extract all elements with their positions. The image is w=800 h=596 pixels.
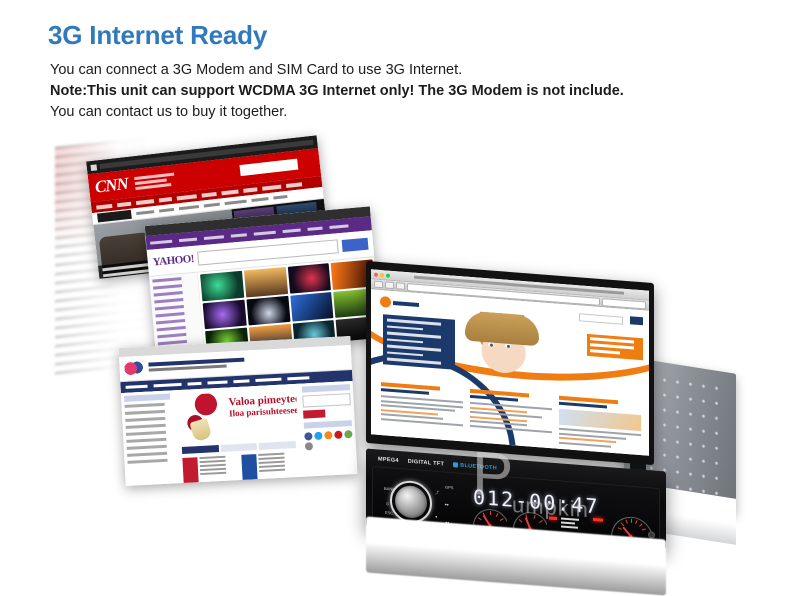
facebook-icon[interactable] <box>304 432 312 440</box>
power-icon[interactable]: ⏻ <box>386 501 389 506</box>
maximize-icon[interactable] <box>386 273 390 277</box>
car-stereo-unit: MPEG4 DIGITAL TFT BLUETOOTH BAND ESC ⏻ ⤴… <box>358 160 688 490</box>
finnish-right-sidebar[interactable] <box>299 381 358 478</box>
cnn-search-input[interactable] <box>239 159 298 176</box>
description-block: You can connect a 3G Modem and SIM Card … <box>50 60 710 123</box>
screenshot-yahoo-images: YAHOO! <box>145 206 382 357</box>
product-card[interactable] <box>182 455 239 486</box>
twitter-icon[interactable] <box>314 432 322 440</box>
newsletter-input[interactable] <box>302 393 351 407</box>
eye-shape <box>488 342 494 346</box>
content-columns <box>381 382 641 452</box>
image-thumb[interactable] <box>290 292 334 322</box>
description-line-1: You can connect a 3G Modem and SIM Card … <box>50 60 710 81</box>
book-cover <box>241 454 258 485</box>
tft-screen <box>366 261 654 465</box>
sidebar-heading <box>302 384 350 393</box>
cnn-logo: CNN <box>94 174 129 198</box>
finnish-product-cards[interactable] <box>179 450 301 486</box>
page-title: 3G Internet Ready <box>48 20 267 51</box>
reload-icon[interactable] <box>396 282 405 290</box>
promo-callout[interactable] <box>587 334 643 360</box>
forward-icon[interactable] <box>385 281 394 289</box>
screenshot-finnish-site: Valoa pimeyteen Iloa parisuhteeseen <box>119 336 358 486</box>
finnish-left-sidebar[interactable] <box>121 390 178 486</box>
tab[interactable] <box>259 441 296 450</box>
window-icon <box>90 164 97 171</box>
subscribe-button[interactable] <box>303 409 325 418</box>
back-icon[interactable] <box>374 281 383 289</box>
content-column <box>381 382 463 438</box>
mail-icon[interactable] <box>305 442 313 450</box>
sidebar-heading <box>124 394 170 402</box>
description-line-3: You can contact us to buy it together. <box>50 102 710 123</box>
badge-mpeg4: MPEG4 <box>378 456 399 464</box>
image-thumb[interactable] <box>287 263 331 293</box>
finnish-site-title <box>148 357 244 373</box>
brand-mark-icon <box>380 296 391 308</box>
wine-illustration <box>180 393 228 443</box>
content-column <box>559 396 641 452</box>
minimize-icon[interactable] <box>380 272 384 276</box>
sidebar-heading <box>304 420 352 429</box>
screen-glass[interactable] <box>371 269 649 455</box>
badge-digital-tft: DIGITAL TFT <box>408 458 444 467</box>
cnn-header-meta <box>134 172 175 189</box>
hair-shape <box>465 311 539 347</box>
browser-window <box>371 269 649 455</box>
website-content <box>371 289 649 455</box>
product-card[interactable] <box>241 452 298 485</box>
content-column <box>470 389 552 445</box>
book-cover <box>182 457 199 486</box>
description-line-2: Note:This unit can support WCDMA 3G Inte… <box>50 81 710 102</box>
site-menu-panel[interactable] <box>383 314 455 370</box>
site-logo-icon <box>124 361 145 376</box>
close-icon[interactable] <box>374 272 378 276</box>
share-icon[interactable] <box>344 430 352 438</box>
equalizer-bars <box>561 517 579 530</box>
product-text <box>258 453 286 484</box>
tab[interactable] <box>220 443 257 452</box>
band-button-label[interactable]: BAND <box>384 486 395 492</box>
image-thumb[interactable] <box>244 267 288 297</box>
social-icons[interactable] <box>304 430 353 450</box>
finnish-promo-banner: Valoa pimeyteen Iloa parisuhteeseen <box>176 387 299 445</box>
indicator-dash <box>549 517 557 521</box>
badge-bluetooth: BLUETOOTH <box>453 462 497 471</box>
image-thumb[interactable] <box>246 296 290 326</box>
rss-icon[interactable] <box>324 431 332 439</box>
youtube-icon[interactable] <box>334 431 342 439</box>
gps-button[interactable]: GPS <box>445 485 467 492</box>
next-track-button[interactable]: ▸▸ <box>445 502 467 509</box>
image-thumb[interactable] <box>200 271 244 301</box>
site-login-button[interactable] <box>630 316 643 325</box>
promo-text: Valoa pimeyteen Iloa parisuhteeseen <box>228 393 293 419</box>
collage-stage: CNN <box>0 130 800 510</box>
phone-icon[interactable]: ⤴ <box>435 490 439 496</box>
promo-line-2: Iloa parisuhteeseen <box>229 405 293 419</box>
finnish-main-column: Valoa pimeyteen Iloa parisuhteeseen <box>173 384 304 484</box>
product-banner: 3G Internet Ready You can connect a 3G M… <box>0 0 800 510</box>
product-text <box>199 456 227 486</box>
finnish-body: Valoa pimeyteen Iloa parisuhteeseen <box>121 381 358 486</box>
tab-active[interactable] <box>182 445 219 454</box>
eye-shape <box>505 344 511 348</box>
brand-wordmark <box>393 300 419 306</box>
mute-icon[interactable]: ◂ <box>435 514 437 519</box>
yahoo-logo: YAHOO! <box>152 253 194 269</box>
indicator-dash <box>593 518 603 522</box>
hero-portrait-photo <box>463 310 541 378</box>
esc-button-label[interactable]: ESC <box>385 510 393 516</box>
image-thumb[interactable] <box>203 299 247 329</box>
